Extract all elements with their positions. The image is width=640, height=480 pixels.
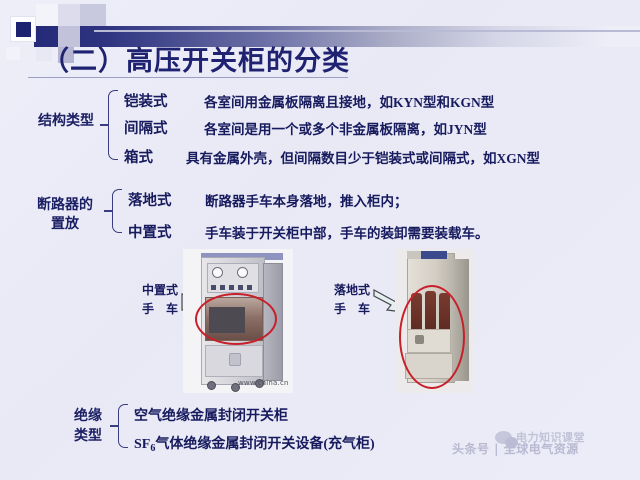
sf6-rest: 气体绝缘金属封闭开关设备(充气柜) — [155, 437, 374, 452]
group-label-structure: 结构类型 — [28, 113, 104, 131]
deco-square-3 — [80, 4, 106, 26]
figure-left-callout-line2: 手 车 — [142, 300, 178, 317]
group-label-insulation-line2: 类型 — [60, 428, 116, 446]
cabinet-right-top-panel — [407, 251, 421, 259]
brace-structure-stem — [100, 124, 109, 126]
item-desc-luodishi: 断路器手车本身落地，推入柜内； — [205, 190, 408, 210]
page-title: （二）高压开关柜的分类 — [42, 39, 350, 78]
deco-square-navy — [16, 22, 31, 37]
slide-canvas: （二）高压开关柜的分类 结构类型 铠装式 各室间用金属板隔离且接地，如KYN型和… — [0, 0, 640, 480]
item-desc-jiange: 各室间是用一个或多个非金属板隔离，如JYN型 — [204, 118, 487, 138]
gauge-icon-1 — [212, 267, 223, 278]
figure-right-callout-line2: 手 车 — [334, 300, 370, 317]
deco-square-2 — [58, 4, 80, 26]
brace-breaker — [112, 189, 122, 233]
item-name-jiange: 间隔式 — [124, 117, 168, 138]
item-name-xiangshi: 箱式 — [124, 146, 153, 167]
item-desc-zhongzhishi: 手车装于开关柜中部，手车的装卸需要装载车。 — [205, 222, 489, 242]
title-underline — [28, 77, 348, 78]
figure-right-photo — [395, 249, 473, 393]
figure-left-source-mark: www.china.cn — [238, 379, 289, 387]
panel-button-2 — [220, 285, 225, 290]
panel-button-3 — [229, 285, 234, 290]
figure-right-callout-line1: 落地式 — [334, 281, 370, 298]
item-name-luodishi: 落地式 — [128, 189, 172, 210]
panel-button-1 — [211, 285, 216, 290]
item-desc-air-insulation: 空气绝缘金属封闭开关柜 — [134, 405, 288, 425]
item-desc-sf6-insulation: SF6气体绝缘金属封闭开关设备(充气柜) — [134, 433, 375, 454]
group-label-breaker-line2: 置放 — [22, 216, 108, 234]
item-name-zhongzhishi: 中置式 — [128, 221, 172, 242]
gauge-icon-2 — [237, 267, 248, 278]
item-name-kaizhuang: 铠装式 — [124, 90, 168, 111]
item-desc-kaizhuang: 各室间用金属板隔离且接地，如KYN型和KGN型 — [204, 91, 494, 111]
figure-right-highlight-ellipse — [399, 285, 465, 389]
panel-button-5 — [247, 285, 252, 290]
cabinet-left-door-handle — [229, 353, 241, 366]
deco-square-7 — [6, 47, 20, 60]
brace-structure — [108, 90, 118, 160]
group-label-insulation-line1: 绝缘 — [60, 408, 116, 426]
sf6-prefix: SF — [134, 437, 150, 452]
header-thin-line — [94, 30, 640, 32]
brace-breaker-stem — [104, 210, 113, 212]
group-label-breaker-line1: 断路器的 — [22, 197, 108, 215]
brace-insulation-stem — [110, 425, 119, 427]
figure-left-highlight-ellipse — [195, 293, 277, 345]
watermark-main-line: 头条号 | 全球电气资源 — [452, 440, 579, 457]
brace-insulation — [118, 404, 128, 448]
figure-left-photo: www.china.cn — [183, 249, 293, 393]
panel-button-4 — [238, 285, 243, 290]
deco-square-1 — [36, 4, 58, 26]
figure-left-callout-line1: 中置式 — [142, 281, 178, 298]
caster-wheel-1 — [207, 381, 216, 390]
item-desc-xiangshi: 具有金属外壳，但间隔数目少于铠装式或间隔式，如XGN型 — [186, 147, 540, 167]
